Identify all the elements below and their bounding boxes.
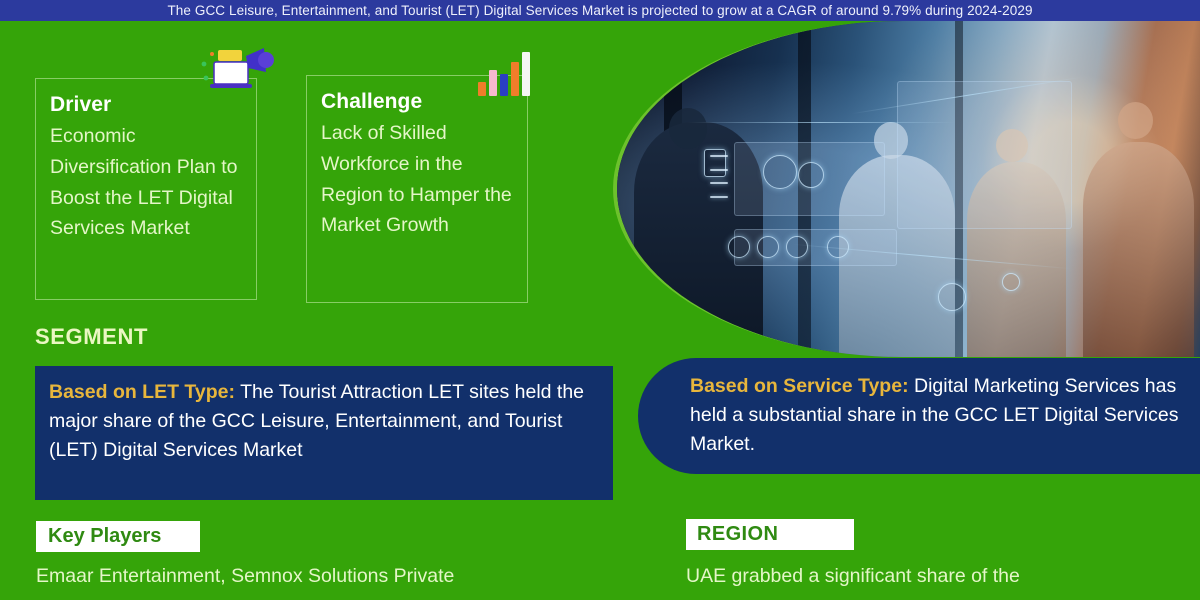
header-banner: The GCC Leisure, Entertainment, and Tour… bbox=[0, 0, 1200, 21]
region-tag: REGION bbox=[686, 519, 854, 550]
bar-chart-bar bbox=[522, 52, 530, 96]
challenge-card-body: Lack of Skilled Workforce in the Region … bbox=[321, 118, 513, 241]
bar-chart-bar bbox=[511, 62, 519, 96]
region-text: UAE grabbed a significant share of the bbox=[686, 562, 1186, 591]
driver-card: Driver Economic Diversification Plan to … bbox=[35, 78, 257, 300]
circle-hud-icon bbox=[757, 236, 779, 258]
person-silhouette bbox=[1083, 142, 1194, 357]
person-head bbox=[1118, 102, 1153, 139]
bar-chart-bar bbox=[500, 74, 508, 96]
segment-service-type-text: Based on Service Type: Digital Marketing… bbox=[690, 372, 1182, 459]
challenge-card: Challenge Lack of Skilled Workforce in t… bbox=[306, 75, 528, 303]
bar-chart-icon bbox=[478, 48, 536, 96]
person-head bbox=[669, 108, 707, 148]
network-hud-icon bbox=[798, 162, 824, 188]
segment-heading: SEGMENT bbox=[35, 324, 148, 350]
infographic-canvas: The GCC Leisure, Entertainment, and Tour… bbox=[0, 0, 1200, 600]
region-tag-label: REGION bbox=[697, 523, 778, 546]
segment-let-type-text: Based on LET Type: The Tourist Attractio… bbox=[49, 378, 597, 465]
segment-let-type-lead: Based on LET Type: bbox=[49, 381, 235, 403]
key-players-tag-label: Key Players bbox=[48, 525, 161, 548]
header-title: The GCC Leisure, Entertainment, and Tour… bbox=[167, 3, 1032, 18]
document-hud-icon bbox=[704, 149, 726, 177]
driver-card-body: Economic Diversification Plan to Boost t… bbox=[50, 121, 242, 244]
hud-connector-line bbox=[687, 122, 955, 123]
circle-hud-icon bbox=[1002, 273, 1020, 291]
circle-hud-icon bbox=[728, 236, 750, 258]
globe-hud-icon bbox=[763, 155, 797, 189]
target-hud-icon bbox=[938, 283, 966, 311]
bar-chart-bar bbox=[489, 70, 497, 96]
hud-bar bbox=[710, 182, 728, 184]
key-players-text: Emaar Entertainment, Semnox Solutions Pr… bbox=[36, 562, 596, 591]
segment-service-type-box: Based on Service Type: Digital Marketing… bbox=[638, 358, 1200, 474]
bar-chart-bar bbox=[478, 82, 486, 96]
segment-let-type-box: Based on LET Type: The Tourist Attractio… bbox=[35, 366, 613, 500]
key-players-tag: Key Players bbox=[36, 521, 200, 552]
circle-hud-icon bbox=[786, 236, 808, 258]
hud-bar bbox=[710, 169, 728, 171]
hud-bar bbox=[710, 196, 728, 198]
hero-image-container bbox=[613, 21, 1200, 357]
hud-panel bbox=[897, 81, 1072, 229]
globe-hud-icon bbox=[681, 317, 707, 343]
segment-service-type-lead: Based on Service Type: bbox=[690, 375, 909, 397]
hero-image bbox=[613, 21, 1200, 357]
megaphone-laptop-icon bbox=[196, 42, 276, 98]
